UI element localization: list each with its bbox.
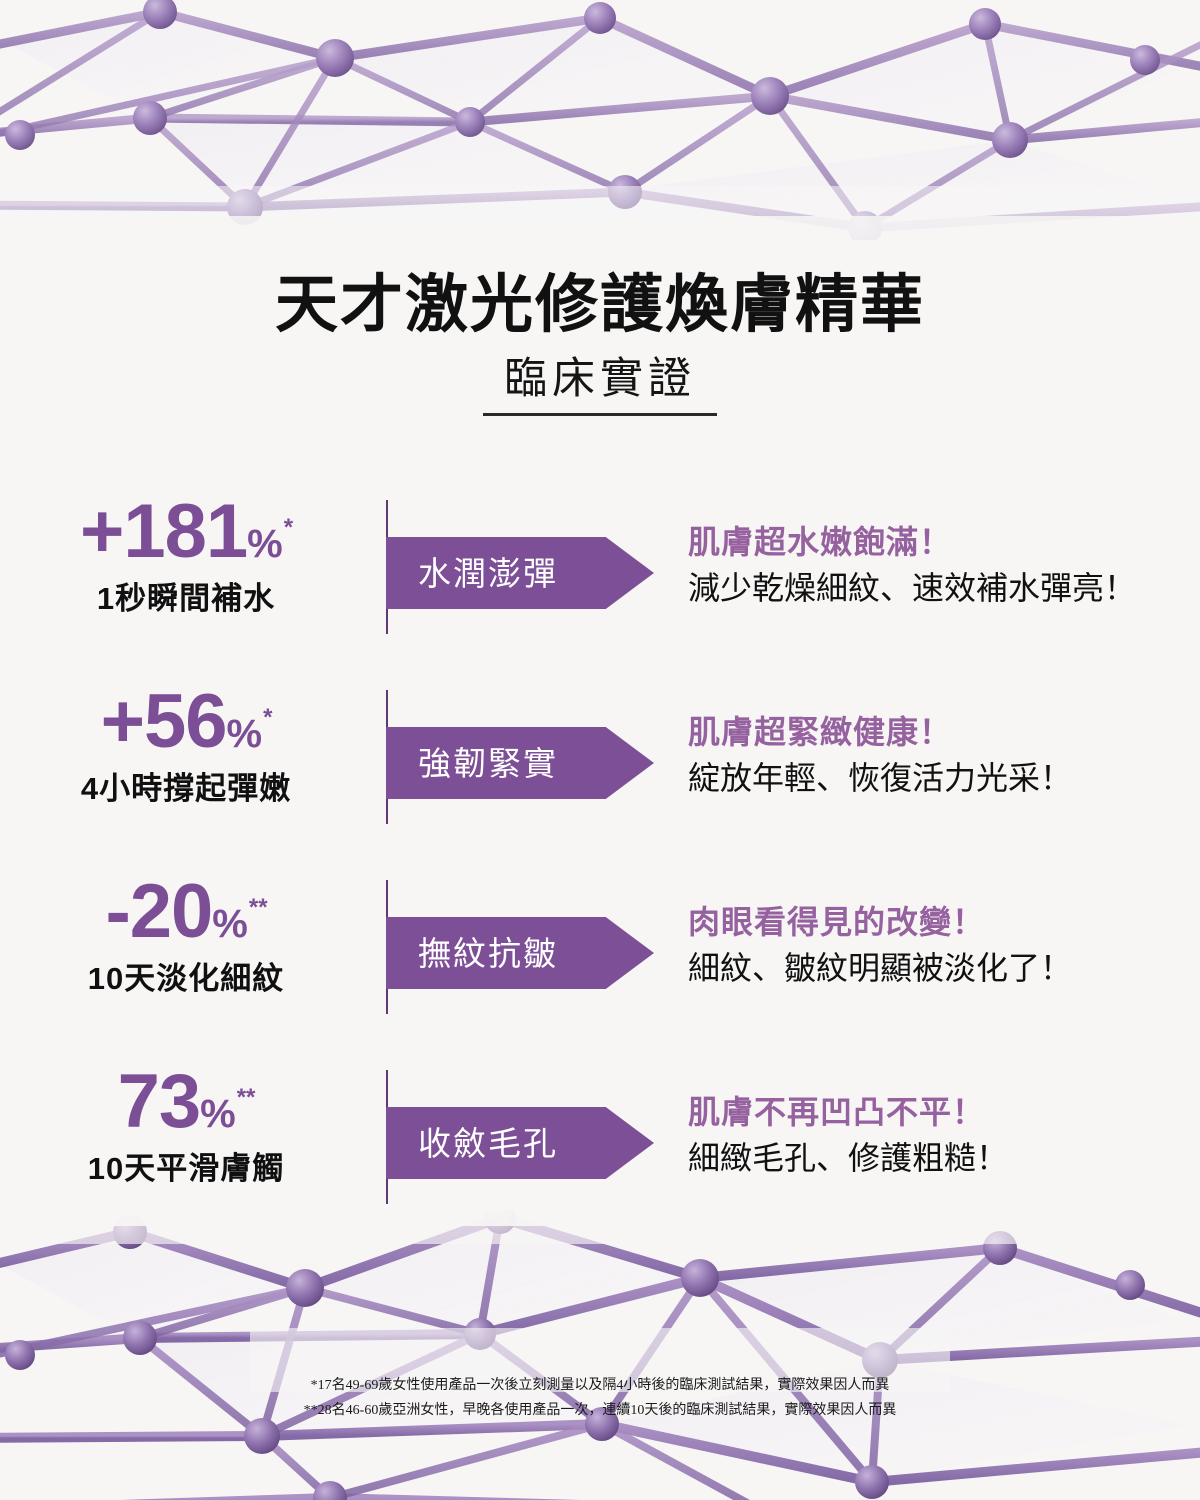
benefit-headline: 肌膚超水嫩飽滿！ (688, 522, 1198, 562)
benefit-headline: 肌膚超緊緻健康！ (688, 712, 1198, 752)
stat-percent-sign: % (227, 712, 263, 756)
benefit-banner-label: 水潤澎彈 (386, 557, 558, 590)
clinical-results-list: +181%* 1秒瞬間補水 水潤澎彈 肌膚超水嫩飽滿！ 減少乾燥細紋、速效補水彈… (0, 486, 1200, 1246)
stat-left-block: 73%** 10天平滑膚觸 (0, 1056, 372, 1186)
benefit-headline: 肌膚不再凹凸不平！ (688, 1092, 1198, 1132)
poster-canvas: 天才激光修護煥膚精華 臨床實證 +181%* 1秒瞬間補水 水潤澎彈 肌膚超水嫩… (0, 0, 1200, 1500)
benefit-description: 細紋、皺紋明顯被淡化了！ (688, 948, 1198, 990)
stat-footnote-marker: ** (237, 1084, 256, 1111)
stat-caption: 10天平滑膚觸 (0, 1152, 372, 1186)
stat-footnote-marker: * (263, 704, 272, 731)
stat-figure: +181%* (0, 486, 372, 570)
stat-right-block: 肌膚超水嫩飽滿！ 減少乾燥細紋、速效補水彈亮！ (688, 522, 1198, 610)
benefit-headline: 肉眼看得見的改變！ (688, 902, 1198, 942)
stat-row: +56%* 4小時撐起彈嫩 強韌緊實 肌膚超緊緻健康！ 綻放年輕、恢復活力光采！ (0, 676, 1200, 866)
stat-percent-sign: % (212, 902, 248, 946)
stat-left-block: +56%* 4小時撐起彈嫩 (0, 676, 372, 806)
stat-percent-sign: % (200, 1092, 236, 1136)
molecular-lattice-bottom-icon (0, 1210, 1200, 1500)
stat-right-block: 肌膚超緊緻健康！ 綻放年輕、恢復活力光采！ (688, 712, 1198, 800)
stat-caption: 4小時撐起彈嫩 (0, 772, 372, 806)
stat-figure: -20%** (0, 866, 372, 950)
stat-right-block: 肉眼看得見的改變！ 細紋、皺紋明顯被淡化了！ (688, 902, 1198, 990)
benefit-banner: 撫紋抗皺 (386, 917, 654, 989)
stat-value: +181 (80, 489, 247, 574)
footnotes-block: *17名49-69歲女性使用產品一次後立刻測量以及隔4小時後的臨床測試結果，實際… (0, 1374, 1200, 1423)
stat-left-block: +181%* 1秒瞬間補水 (0, 486, 372, 616)
benefit-banner: 收斂毛孔 (386, 1107, 654, 1179)
benefit-banner-label: 強韌緊實 (386, 747, 558, 780)
stat-footnote-marker: ** (249, 894, 268, 921)
molecular-lattice-top-icon (0, 0, 1200, 240)
stat-caption: 10天淡化細紋 (0, 962, 372, 996)
footnote-single-asterisk: *17名49-69歲女性使用產品一次後立刻測量以及隔4小時後的臨床測試結果，實際… (0, 1374, 1200, 1399)
benefit-description: 綻放年輕、恢復活力光采！ (688, 758, 1198, 800)
benefit-description: 減少乾燥細紋、速效補水彈亮！ (688, 568, 1198, 610)
subtitle-underline (483, 413, 717, 416)
stat-row: +181%* 1秒瞬間補水 水潤澎彈 肌膚超水嫩飽滿！ 減少乾燥細紋、速效補水彈… (0, 486, 1200, 676)
stat-value: +56 (101, 679, 227, 764)
stat-left-block: -20%** 10天淡化細紋 (0, 866, 372, 996)
benefit-banner: 水潤澎彈 (386, 537, 654, 609)
subtitle: 臨床實證 (483, 356, 717, 413)
stat-right-block: 肌膚不再凹凸不平！ 細緻毛孔、修護粗糙！ (688, 1092, 1198, 1180)
stat-caption: 1秒瞬間補水 (0, 582, 372, 616)
stat-figure: 73%** (0, 1056, 372, 1140)
page-title: 天才激光修護煥膚精華 (0, 272, 1200, 338)
stat-footnote-marker: * (284, 514, 293, 541)
stat-row: -20%** 10天淡化細紋 撫紋抗皺 肉眼看得見的改變！ 細紋、皺紋明顯被淡化… (0, 866, 1200, 1056)
subtitle-group: 臨床實證 (483, 356, 717, 416)
stat-figure: +56%* (0, 676, 372, 760)
benefit-banner: 強韌緊實 (386, 727, 654, 799)
stat-value: 73 (118, 1059, 201, 1144)
stat-percent-sign: % (247, 522, 283, 566)
benefit-description: 細緻毛孔、修護粗糙！ (688, 1138, 1198, 1180)
benefit-banner-label: 收斂毛孔 (386, 1127, 558, 1160)
poster-header: 天才激光修護煥膚精華 臨床實證 (0, 272, 1200, 416)
stat-value: -20 (105, 869, 212, 954)
footnote-double-asterisk: **28名46-60歲亞洲女性，早晚各使用產品一次，連續10天後的臨床測試結果，… (0, 1399, 1200, 1424)
benefit-banner-label: 撫紋抗皺 (386, 937, 558, 970)
stat-row: 73%** 10天平滑膚觸 收斂毛孔 肌膚不再凹凸不平！ 細緻毛孔、修護粗糙！ (0, 1056, 1200, 1246)
